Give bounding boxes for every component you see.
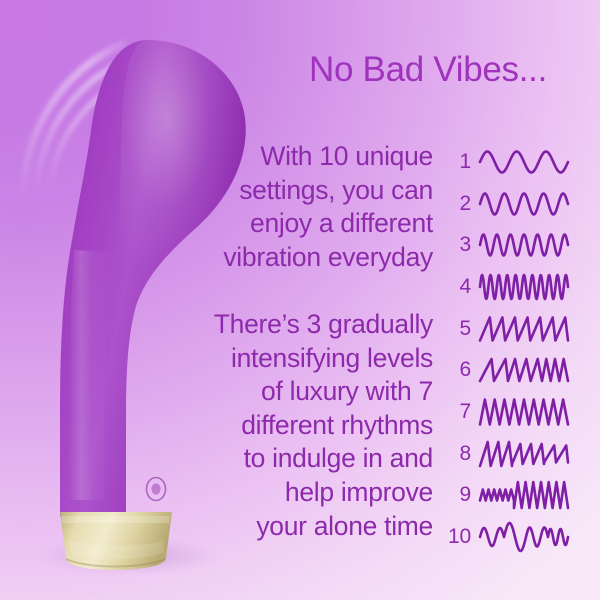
copy-line: There’s 3 gradually	[103, 308, 433, 342]
copy-line: different rhythms	[103, 409, 433, 443]
page-title: No Bad Vibes...	[278, 50, 578, 90]
pattern-row[interactable]: 5	[441, 308, 581, 350]
pattern-number: 9	[441, 483, 471, 507]
pattern-row[interactable]: 4	[441, 266, 581, 308]
copy-line: of luxury with 7	[103, 375, 433, 409]
copy-line: intensifying levels	[103, 342, 433, 376]
waveform-mixed-sawtooth-triangle-icon	[478, 350, 570, 390]
pattern-number: 5	[441, 317, 471, 341]
waveform-sawtooth-ramp-icon	[478, 309, 570, 349]
pattern-number: 10	[441, 525, 471, 549]
copy-line: to indulge in and	[103, 442, 433, 476]
pattern-row[interactable]: 2	[441, 183, 581, 225]
copy-line: settings, you can	[103, 174, 433, 208]
copy-line: With 10 unique	[103, 140, 433, 174]
pattern-row[interactable]: 9	[441, 475, 581, 517]
waveform-very-high-frequency-sine-icon	[478, 267, 570, 307]
pattern-number: 6	[441, 358, 471, 382]
pattern-row[interactable]: 7	[441, 391, 581, 433]
pattern-number: 2	[441, 192, 471, 216]
waveform-irregular-mixed-icon	[478, 517, 570, 557]
promo-image: No Bad Vibes... With 10 unique settings,…	[0, 0, 600, 600]
pattern-number: 3	[441, 233, 471, 257]
waveform-decaying-sawtooth-icon	[478, 434, 570, 474]
copy-line: help improve	[103, 476, 433, 510]
copy-paragraph-2: There’s 3 gradually intensifying levels …	[103, 308, 433, 543]
copy-line: your alone time	[103, 510, 433, 544]
copy-line: enjoy a different	[103, 207, 433, 241]
waveform-medium-frequency-sine-icon	[478, 184, 570, 224]
pattern-number: 7	[441, 400, 471, 424]
pattern-row[interactable]: 3	[441, 224, 581, 266]
pattern-row[interactable]: 8	[441, 433, 581, 475]
waveform-high-frequency-sine-icon	[478, 225, 570, 265]
waveform-low-frequency-sine-icon	[478, 142, 570, 182]
pattern-row[interactable]: 1	[441, 141, 581, 183]
copy-line: vibration everyday	[103, 241, 433, 275]
copy-paragraph-1: With 10 unique settings, you can enjoy a…	[103, 140, 433, 274]
waveform-dense-triangle-icon	[478, 392, 570, 432]
pattern-row[interactable]: 10	[441, 516, 581, 558]
waveform-small-then-large-amplitude-icon	[478, 475, 570, 515]
pattern-number: 8	[441, 442, 471, 466]
pattern-number: 1	[441, 150, 471, 174]
pattern-row[interactable]: 6	[441, 349, 581, 391]
vibration-pattern-list: 12345678910	[441, 141, 581, 558]
pattern-number: 4	[441, 275, 471, 299]
